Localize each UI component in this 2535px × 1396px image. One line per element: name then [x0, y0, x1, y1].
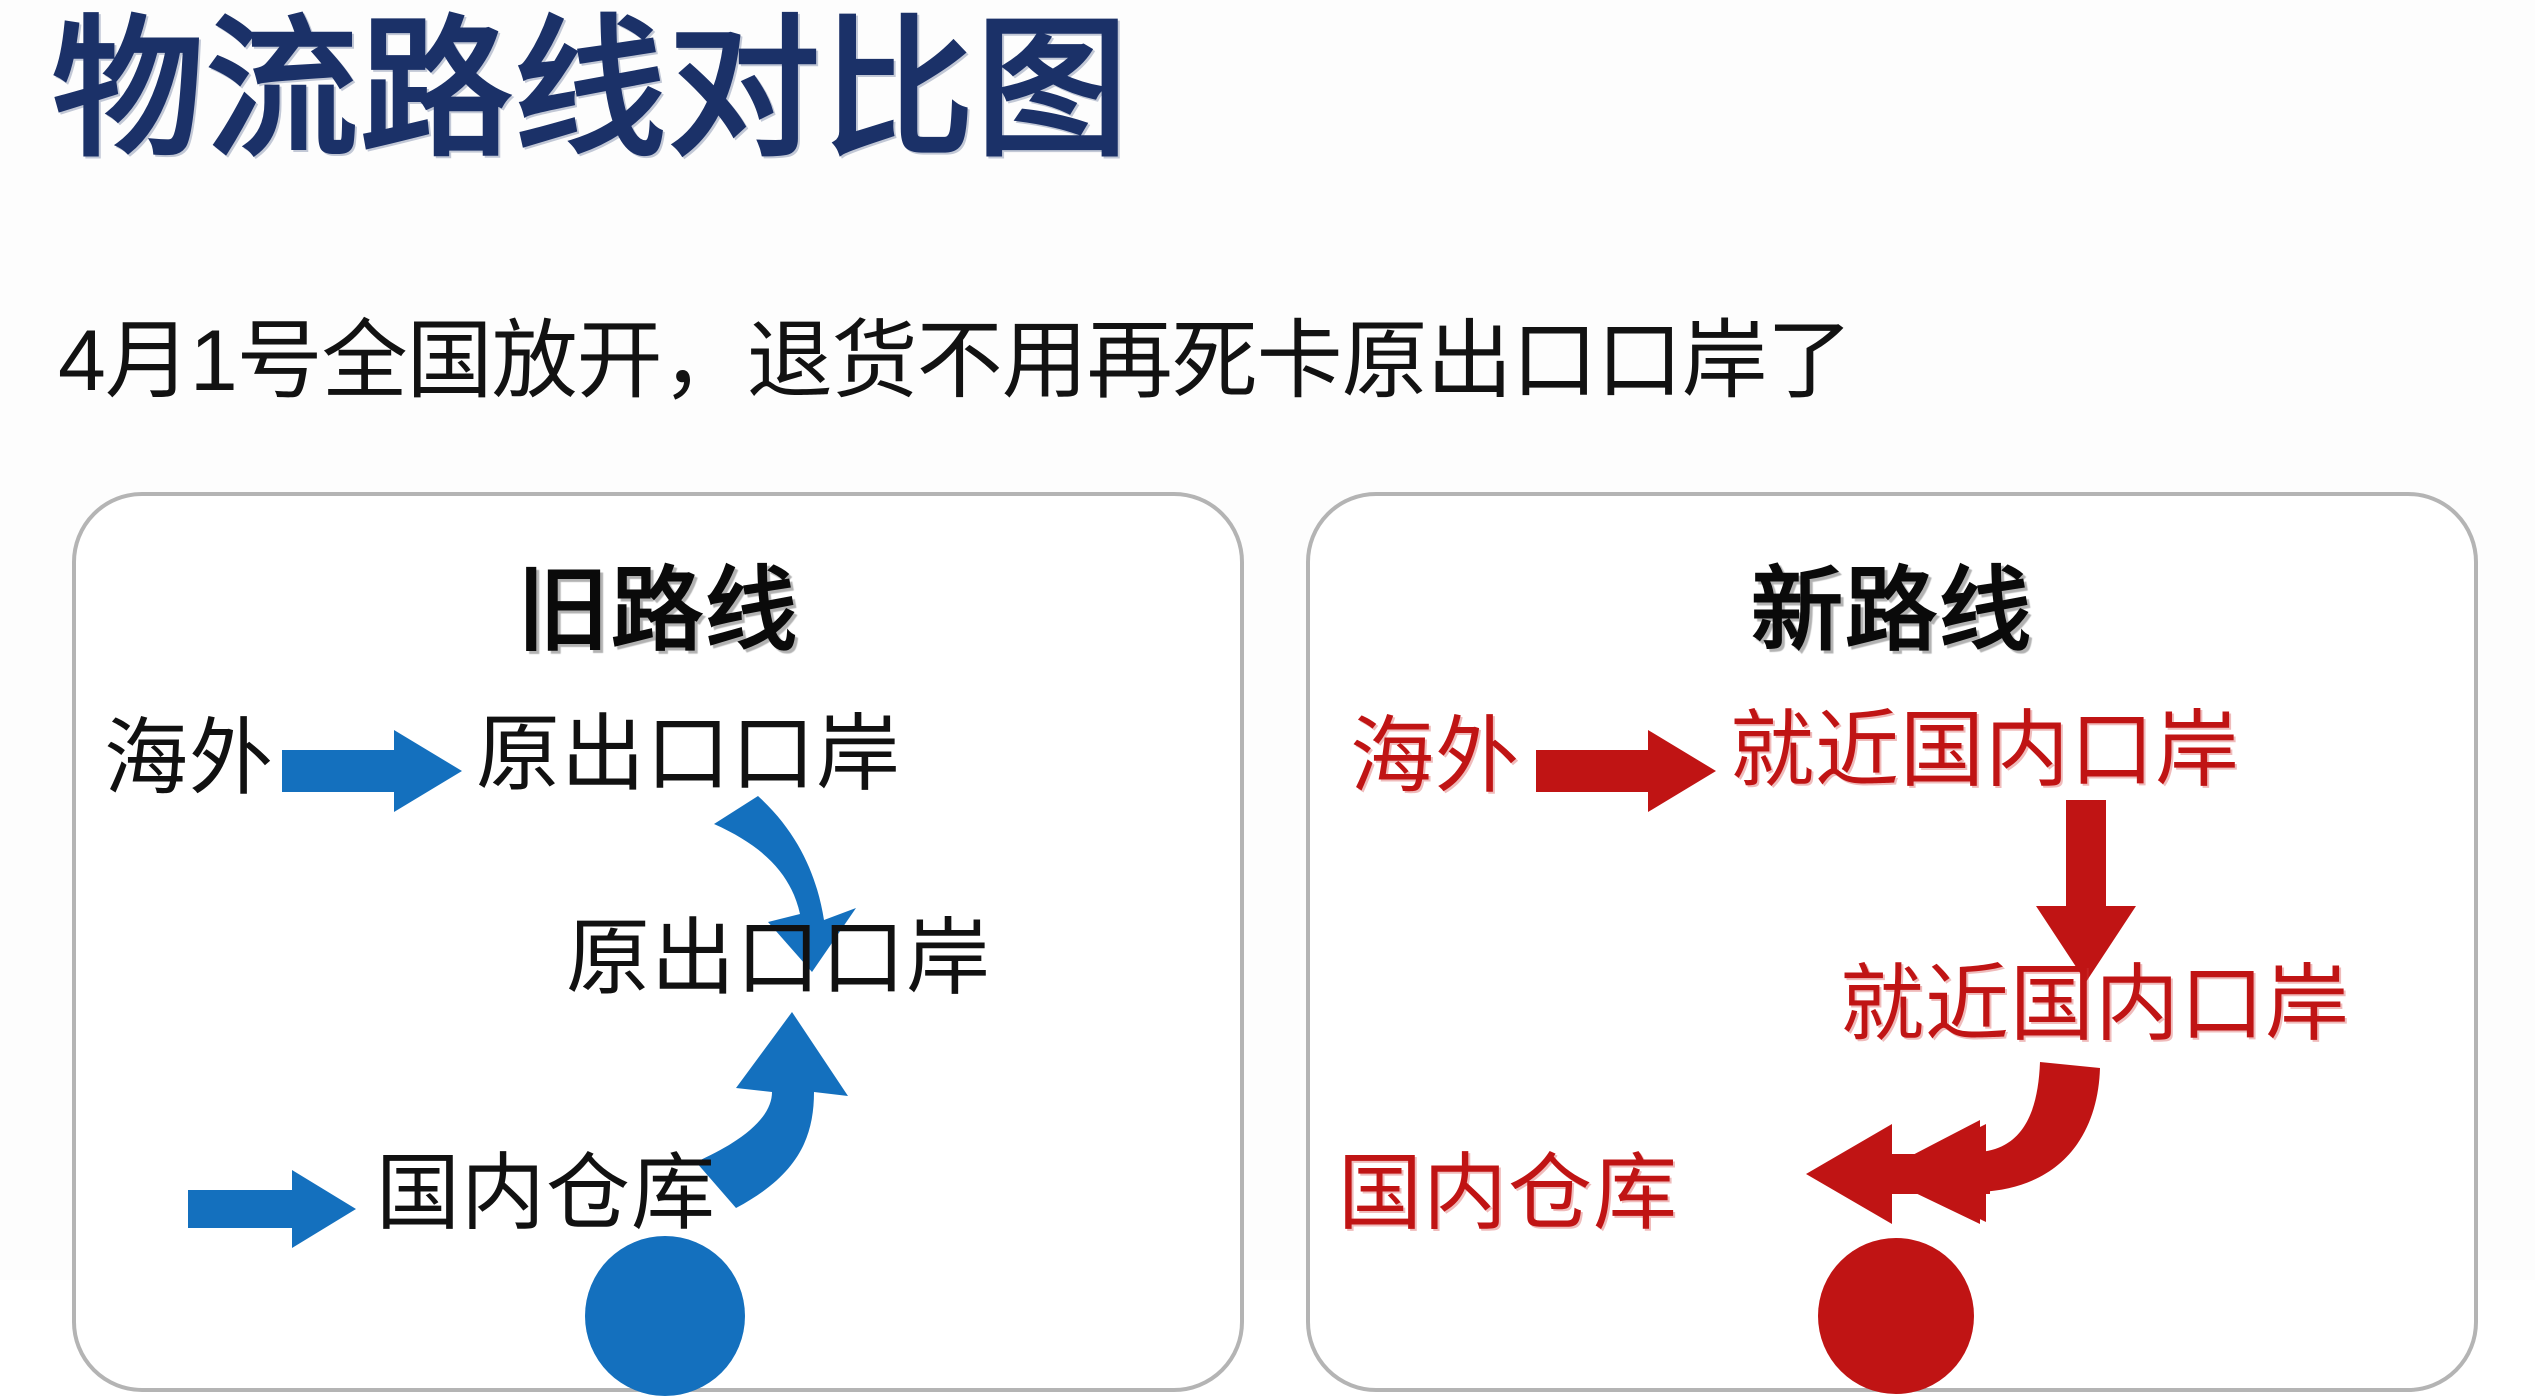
node-new-nearby-port-top: 就近国内口岸	[1730, 708, 2240, 792]
arrow-old-overseas-to-port	[282, 728, 462, 814]
arrow-old-into-warehouse	[188, 1168, 356, 1250]
node-old-domestic-warehouse: 国内仓库	[376, 1151, 716, 1235]
node-new-nearby-port-mid: 就近国内口岸	[1840, 962, 2350, 1046]
page-title: 物流路线对比图	[52, 14, 1130, 166]
node-old-origin-port-top: 原出口口岸	[476, 712, 901, 796]
decoration-circle-left	[585, 1236, 745, 1396]
decoration-circle-right	[1818, 1238, 1974, 1394]
card-title-new-route: 新路线	[1310, 536, 2474, 669]
arrow-new-straight-down	[2032, 800, 2142, 982]
card-title-old-route: 旧路线	[76, 536, 1240, 669]
node-new-domestic-warehouse: 国内仓库	[1338, 1151, 1678, 1235]
arrow-new-overseas-to-port	[1536, 728, 1716, 814]
arrow-old-curved-up	[696, 1012, 886, 1212]
node-old-overseas: 海外	[104, 716, 274, 800]
page-background: 物流路线对比图 4月1号全国放开，退货不用再死卡原出口口岸了 旧路线 海外 原出…	[0, 0, 2535, 1280]
page-subtitle: 4月1号全国放开，退货不用再死卡原出口口岸了	[58, 318, 1852, 404]
arrow-new-curved-left	[1710, 1062, 2100, 1252]
node-new-overseas: 海外	[1350, 714, 1520, 798]
node-old-origin-port-mid: 原出口口岸	[566, 916, 991, 1000]
